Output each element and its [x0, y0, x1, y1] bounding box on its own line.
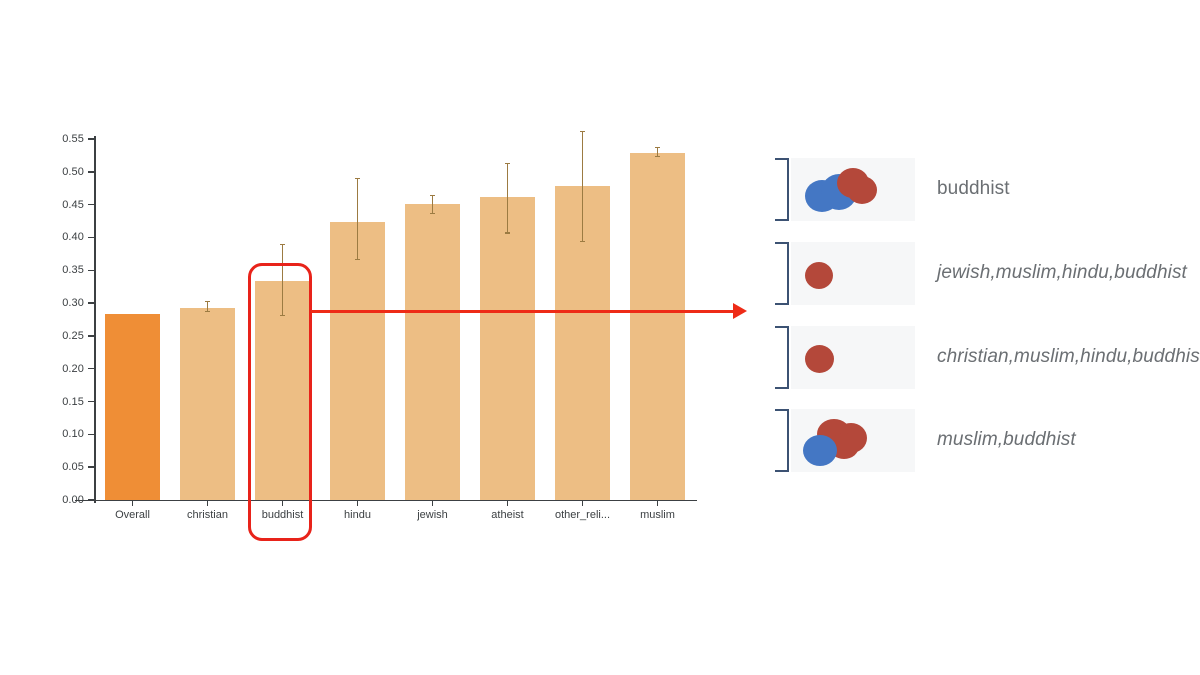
highlight-box-buddhist	[248, 263, 312, 541]
y-axis-tick-label: 0.15	[62, 396, 84, 408]
bar-overall[interactable]	[105, 314, 160, 500]
blob-shape-red	[805, 345, 834, 373]
x-axis-tick	[132, 500, 133, 506]
annotation-arrow-line	[311, 310, 739, 313]
error-bar-cap	[355, 178, 360, 179]
y-axis-tick	[88, 138, 94, 139]
bar-atheist[interactable]	[480, 197, 535, 500]
y-axis-tick	[88, 237, 94, 238]
y-axis-tick	[88, 434, 94, 435]
y-axis-tick-label: 0.45	[62, 199, 84, 211]
legend-label: jewish,muslim,hindu,buddhist	[937, 262, 1187, 284]
x-axis-tick-label-other-reli-: other_reli...	[555, 509, 610, 521]
y-axis-tick-label: 0.35	[62, 264, 84, 276]
legend-row[interactable]: buddhist	[765, 155, 1200, 223]
thumbnail-image[interactable]	[791, 158, 915, 221]
error-bar-cap	[355, 259, 360, 260]
y-axis-tick-label: 0.10	[62, 428, 84, 440]
error-bar	[507, 163, 509, 233]
x-axis-tick-label-christian: christian	[187, 509, 228, 521]
x-axis-tick	[357, 500, 358, 506]
annotation-arrow-head-icon	[733, 303, 747, 319]
x-axis-tick-label-jewish: jewish	[417, 509, 448, 521]
legend-row[interactable]: muslim,buddhist	[765, 406, 1200, 474]
error-bar-cap	[655, 147, 660, 148]
thumbnail-image[interactable]	[791, 409, 915, 472]
y-axis-tick	[88, 204, 94, 205]
bar-muslim[interactable]	[630, 153, 685, 500]
legend-row[interactable]: jewish,muslim,hindu,buddhist	[765, 239, 1200, 307]
y-axis-tick-label: 0.40	[62, 231, 84, 243]
error-bar	[357, 178, 359, 259]
y-axis: 0.000.050.100.150.200.250.300.350.400.45…	[0, 0, 94, 675]
thumbnail-image[interactable]	[791, 242, 915, 305]
plot-area	[95, 139, 695, 500]
blob-shape-blue	[803, 435, 837, 466]
legend-panel: buddhistjewish,muslim,hindu,buddhistchri…	[765, 0, 1200, 675]
bar-jewish[interactable]	[405, 204, 460, 500]
x-axis-tick	[432, 500, 433, 506]
error-bar-cap	[505, 232, 510, 233]
legend-label: buddhist	[937, 178, 1010, 200]
y-axis-tick	[88, 302, 94, 303]
bracket-icon	[775, 242, 789, 305]
x-axis-tick-label-hindu: hindu	[344, 509, 371, 521]
blob-shape-red	[805, 262, 833, 289]
x-axis-tick-label-overall: Overall	[115, 509, 150, 521]
error-bar-cap	[505, 163, 510, 164]
thumbnail-image[interactable]	[791, 326, 915, 389]
y-axis-tick-label: 0.20	[62, 363, 84, 375]
x-axis-tick	[657, 500, 658, 506]
error-bar	[432, 195, 434, 213]
y-axis-tick-label: 0.30	[62, 297, 84, 309]
y-axis-tick-label: 0.05	[62, 461, 84, 473]
x-axis-tick	[207, 500, 208, 506]
legend-label: muslim,buddhist	[937, 429, 1076, 451]
y-axis-tick-label: 0.00	[62, 494, 84, 506]
error-bar	[582, 132, 584, 242]
legend-row[interactable]: christian,muslim,hindu,buddhist	[765, 323, 1200, 391]
bar-hindu[interactable]	[330, 222, 385, 500]
bracket-icon	[775, 326, 789, 389]
x-axis-line	[75, 500, 697, 501]
y-axis-tick-label: 0.25	[62, 330, 84, 342]
y-axis-tick	[88, 401, 94, 402]
error-bar-cap	[580, 131, 585, 132]
x-axis-tick-label-muslim: muslim	[640, 509, 675, 521]
y-axis-tick	[88, 499, 94, 500]
x-axis-tick	[582, 500, 583, 506]
error-bar-cap	[205, 311, 210, 312]
y-axis-tick	[88, 171, 94, 172]
y-axis-tick	[88, 368, 94, 369]
legend-label: christian,muslim,hindu,buddhist	[937, 346, 1200, 368]
error-bar-cap	[655, 156, 660, 157]
bar-christian[interactable]	[180, 308, 235, 500]
x-axis-tick-label-atheist: atheist	[491, 509, 523, 521]
y-axis-tick	[88, 466, 94, 467]
y-axis-tick	[88, 270, 94, 271]
bar-chart-panel: 0.000.050.100.150.200.250.300.350.400.45…	[0, 0, 760, 675]
error-bar-cap	[430, 213, 435, 214]
error-bar-cap	[205, 301, 210, 302]
y-axis-tick-label: 0.55	[62, 133, 84, 145]
x-axis-tick	[507, 500, 508, 506]
error-bar-cap	[280, 244, 285, 245]
error-bar-cap	[580, 241, 585, 242]
error-bar-cap	[430, 195, 435, 196]
y-axis-tick-label: 0.50	[62, 166, 84, 178]
bracket-icon	[775, 158, 789, 221]
blob-shape-red	[847, 176, 877, 204]
y-axis-tick	[88, 335, 94, 336]
bracket-icon	[775, 409, 789, 472]
